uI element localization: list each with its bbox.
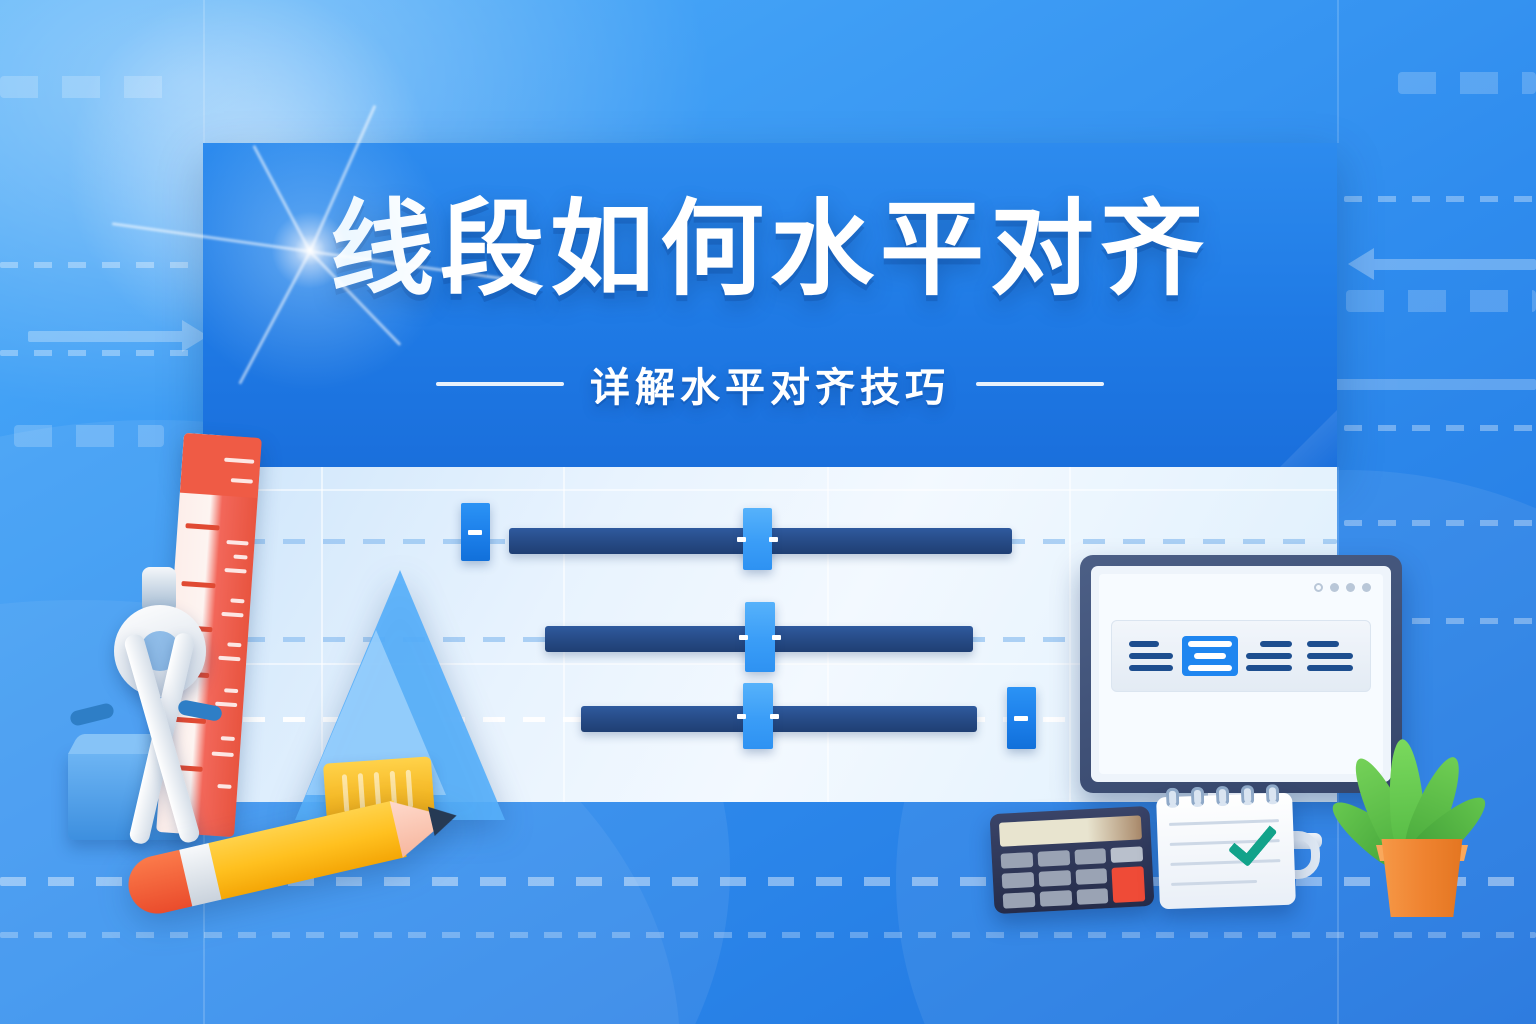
poster-canvas: 线段如何水平对齐 详解水平对齐技巧 — [0, 0, 1536, 1024]
dashed-guide — [0, 76, 180, 98]
grid-line — [203, 0, 205, 143]
align-left-option[interactable] — [1123, 636, 1179, 676]
window-controls — [1314, 583, 1371, 592]
segment-handle-center[interactable] — [743, 683, 773, 749]
segment-handle-center[interactable] — [743, 508, 772, 570]
notepad-rings — [1166, 784, 1280, 808]
dashed-guide — [1344, 520, 1536, 526]
subtitle-row: 详解水平对齐技巧 — [203, 355, 1337, 413]
flower-pot — [1376, 839, 1468, 917]
dashed-guide — [1344, 196, 1536, 202]
segment-handle-center[interactable] — [745, 602, 775, 672]
line-segment — [581, 706, 977, 732]
dashed-guide — [1398, 72, 1536, 94]
dashed-guide — [0, 262, 200, 268]
drawing-tools-group — [50, 440, 530, 940]
plant-icon — [1332, 717, 1492, 917]
compass-icon — [70, 585, 260, 855]
desk-scene-group — [980, 545, 1500, 965]
subtitle-rule-left — [436, 382, 564, 386]
notepad-icon — [1156, 793, 1296, 910]
title-card: 线段如何水平对齐 详解水平对齐技巧 — [203, 143, 1337, 468]
calculator-display — [999, 815, 1142, 846]
dashed-guide — [1346, 290, 1536, 312]
align-right-option[interactable] — [1240, 636, 1298, 676]
page-title: 线段如何水平对齐 — [203, 195, 1337, 305]
align-center-option[interactable] — [1182, 636, 1238, 676]
calculator-keys — [1001, 846, 1146, 908]
grid-line — [1337, 0, 1339, 143]
arrow-right-icon — [28, 320, 208, 352]
arrow-left-icon — [1348, 248, 1536, 280]
calculator-icon — [989, 806, 1154, 914]
align-toolbar — [1111, 620, 1371, 692]
dashed-guide — [1344, 425, 1536, 431]
align-justify-option[interactable] — [1301, 636, 1359, 676]
page-subtitle: 详解水平对齐技巧 — [590, 355, 950, 413]
card-corner-notch — [1279, 410, 1337, 468]
subtitle-rule-right — [976, 382, 1104, 386]
